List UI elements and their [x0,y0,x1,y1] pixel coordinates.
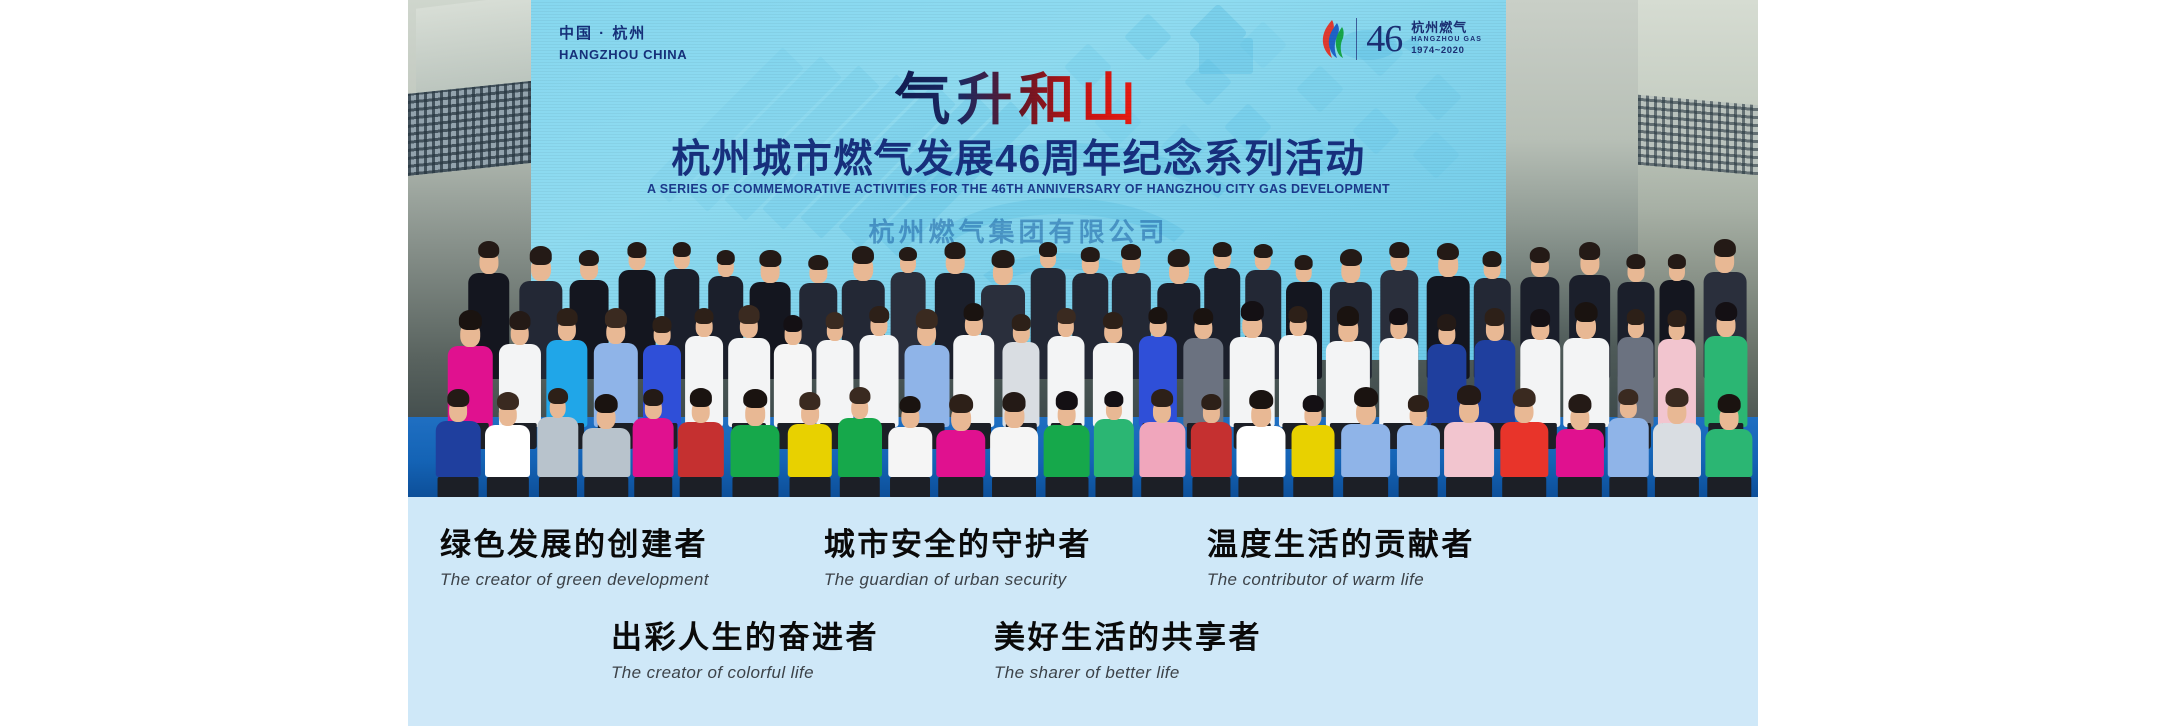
slogan-en: The creator of green development [440,570,709,590]
slogan-en: The contributor of warm life [1207,570,1475,590]
person-torso [889,427,932,477]
venue-perforated-rail-right [1638,95,1758,175]
person-hair [1389,308,1409,325]
person-legs [1343,477,1389,497]
person-hair [1294,255,1313,270]
person-hair [870,306,889,323]
person-hair [1718,394,1741,413]
anniversary-logo: 46 杭州燃气 HANGZHOU GAS 1974~2020 [1319,18,1482,60]
person-hair [1055,391,1077,410]
person-hair [849,387,870,405]
person-legs [1655,477,1699,497]
person-torso [1501,422,1548,477]
person-hair [529,246,552,264]
anniversary-years: 1974~2020 [1411,46,1482,57]
region-label: 中国 · 杭州 HANGZHOU CHINA [559,24,687,62]
person-hair [448,389,469,407]
person-hair [1408,395,1428,412]
person-torso [678,422,724,477]
person-hair [1484,308,1505,326]
anniversary-number: 46 [1366,20,1402,58]
person-hair [744,389,768,409]
person-hair [1167,249,1190,267]
person-hair [1081,247,1099,262]
person-legs [1142,477,1184,497]
person-torso [1444,422,1494,477]
person-torso [633,418,674,477]
person-hair [809,255,828,271]
person-hair [1531,309,1551,326]
person-legs [1193,477,1230,497]
house-body-shape [1199,38,1253,74]
person-hair [509,311,530,330]
person-hair [915,309,937,329]
region-label-cn: 中国 · 杭州 [559,24,687,44]
person-hair [1249,390,1273,410]
person-torso [731,425,780,477]
person-hair [459,310,481,330]
slogan-urban-security: 城市安全的守护者 The guardian of urban security [824,519,1092,590]
person-torso [1292,425,1335,477]
person-hair [739,305,760,323]
person-torso [537,417,578,477]
slogans-panel: 绿色发展的创建者 The creator of green developmen… [408,497,1758,726]
region-label-en: HANGZHOU CHINA [559,47,687,62]
person-legs [679,477,722,497]
person-hair [653,316,672,333]
person-hair [899,247,917,262]
person-hair [1057,308,1076,324]
person-legs [438,477,479,497]
person-legs [890,477,930,497]
slogan-cn: 温度生活的贡献者 [1207,519,1475,564]
person-hair [945,242,966,259]
person-torso [838,418,882,477]
slogan-row-1: 绿色发展的创建者 The creator of green developmen… [408,519,1758,590]
person-hair [478,241,500,258]
person-hair [1619,389,1638,405]
person-hair [1289,306,1308,323]
poster-content: 中国 · 杭州 HANGZHOU CHINA 46 [408,0,1758,726]
house-icon [1191,12,1261,78]
person-hair [627,242,646,257]
person-hair [595,394,618,413]
flame-icon [1319,19,1347,59]
person-hair [604,308,626,328]
person-legs [1045,477,1088,497]
person-hair [1579,242,1601,260]
person-hair [548,388,568,405]
person-legs [938,477,984,497]
person-torso [1653,423,1701,477]
company-name-en: HANGZHOU GAS [1411,36,1482,44]
slogan-en: The creator of colorful life [611,663,879,683]
person-legs [1557,477,1601,497]
slogan-row-2: 出彩人生的奋进者 The creator of colorful life 美好… [408,612,1758,683]
person-hair [496,392,518,410]
person-hair [1103,312,1123,330]
person-legs [1707,477,1750,497]
slogan-green-development: 绿色发展的创建者 The creator of green developmen… [440,519,709,590]
person-hair [1149,307,1168,324]
person-hair [717,250,735,265]
person-hair [1665,388,1688,407]
person-hair [1254,244,1272,259]
banner-main-title: 杭州城市燃气发展46周年纪念系列活动 [671,128,1365,184]
person-hair [672,242,690,257]
person-hair [1202,394,1221,410]
person-legs [1095,477,1132,497]
person-hair [992,250,1015,268]
person-hair [1121,244,1141,260]
company-lockup: 杭州燃气 HANGZHOU GAS 1974~2020 [1411,21,1482,57]
slogan-warm-life: 温度生活的贡献者 The contributor of warm life [1207,519,1475,590]
person-hair [1104,391,1123,407]
person-torso [1397,425,1439,477]
person-hair [1714,239,1736,257]
person-hair [1530,247,1550,264]
person-torso [436,421,480,477]
person-torso [1555,429,1603,477]
person-hair [1437,243,1459,261]
person-hair [1568,394,1591,413]
person-torso [788,424,832,477]
slogan-colorful-life: 出彩人生的奋进者 The creator of colorful life [611,612,879,683]
person-legs [486,477,528,497]
person-hair [1437,314,1457,331]
event-group-photo: 中国 · 杭州 HANGZHOU CHINA 46 [408,0,1758,497]
person-hair [1303,395,1324,412]
slogan-cn: 城市安全的守护者 [824,519,1092,564]
person-legs [585,477,628,497]
person-hair [644,389,664,405]
person-hair [1354,387,1378,407]
person-hair [1340,249,1362,267]
person-hair [900,396,921,413]
person-hair [1626,254,1645,270]
slogan-en: The guardian of urban security [824,570,1092,590]
group-photo-people [408,177,1758,497]
person-hair [1337,306,1359,325]
person-hair [1513,388,1536,407]
person-legs [992,477,1036,497]
person-legs [539,477,577,497]
person-hair [1241,301,1263,321]
slogan-cn: 美好生活的共享者 [994,612,1262,657]
person-torso [1608,418,1649,478]
company-name-cn: 杭州燃气 [1411,21,1482,36]
person-hair [949,394,973,414]
person-torso [936,430,985,477]
person-hair [799,392,820,410]
person-hair [963,303,984,321]
person-legs [1294,477,1334,497]
person-hair [1668,254,1686,269]
person-legs [1399,477,1438,497]
person-torso [1140,422,1185,477]
person-hair [557,308,578,326]
slogan-cn: 出彩人生的奋进者 [611,612,879,657]
person-legs [839,477,879,497]
person-hair [760,250,781,267]
person-legs [1239,477,1284,497]
person-hair [1003,392,1026,411]
person-hair [1715,302,1737,321]
poster-page: 中国 · 杭州 HANGZHOU CHINA 46 [0,0,2179,726]
person-hair [695,308,714,325]
person-hair [579,250,599,266]
person-hair [826,312,845,328]
person-legs [1502,477,1546,497]
person-hair [1457,385,1481,405]
person-legs [733,477,778,497]
person-hair [690,388,712,407]
person-legs [1446,477,1492,497]
person-legs [635,477,673,497]
person-hair [1575,302,1598,322]
person-torso [1043,425,1090,477]
person-torso [485,425,531,477]
slogan-cn: 绿色发展的创建者 [440,519,709,564]
person-hair [1626,309,1644,325]
person-torso [1341,424,1391,477]
person-torso [1191,422,1231,477]
slogan-better-life: 美好生活的共享者 The sharer of better life [994,612,1262,683]
person-hair [1152,389,1174,407]
person-torso [1474,340,1515,427]
person-legs [790,477,831,497]
person-hair [1213,242,1231,257]
artistic-logotype: 气升和山 [895,55,1143,136]
person-hair [1667,310,1686,327]
logo-divider [1356,18,1357,60]
person-hair [1039,242,1057,257]
person-torso [1094,419,1134,477]
person-torso [583,428,630,477]
person-hair [1390,242,1409,258]
person-torso [816,340,853,427]
person-torso [991,427,1039,477]
person-torso [1705,429,1752,477]
person-hair [1012,314,1031,330]
person-hair [1483,251,1502,266]
person-torso [1237,426,1286,477]
person-hair [783,315,802,332]
person-hair [852,246,874,264]
slogan-en: The sharer of better life [994,663,1262,683]
person-legs [1610,477,1647,497]
person-hair [1194,308,1214,325]
